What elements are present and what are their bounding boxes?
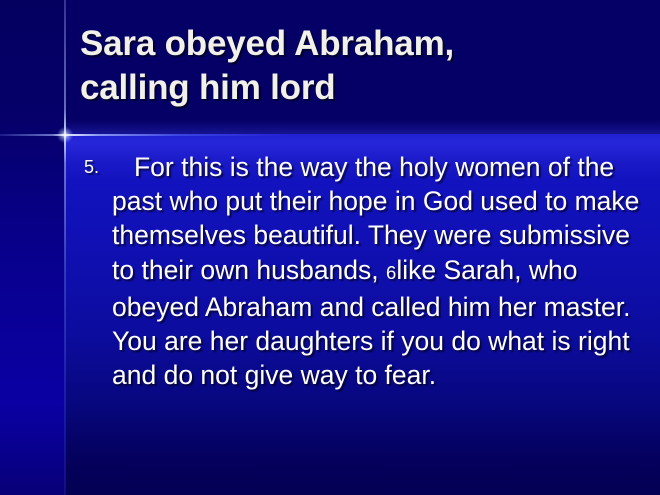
slide-title-line-1: Sara obeyed Abraham, xyxy=(80,22,640,66)
slide-body: 5.For this is the way the holy women of … xyxy=(84,150,644,392)
list-item: 5.For this is the way the holy women of … xyxy=(84,150,644,392)
list-item-number: 5. xyxy=(84,154,99,180)
slide-title: Sara obeyed Abraham, calling him lord xyxy=(80,22,640,110)
slide-title-line-2: calling him lord xyxy=(80,66,640,110)
slide-background-bottom-shade xyxy=(0,405,660,495)
verse-number-marker: 6 xyxy=(386,262,396,283)
presentation-slide: Sara obeyed Abraham, calling him lord 5.… xyxy=(0,0,660,495)
